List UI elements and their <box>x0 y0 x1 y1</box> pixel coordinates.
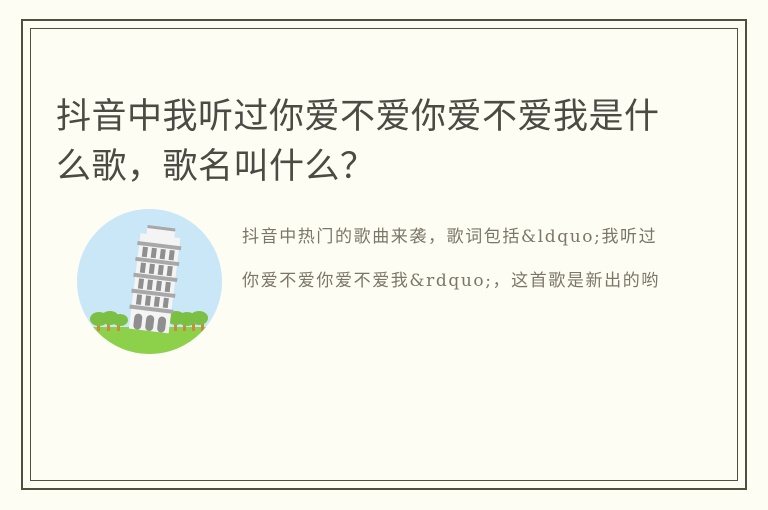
avatar <box>77 209 222 354</box>
article-summary-content: 抖音中热门的歌曲来袭，歌词包括&ldquo;我听过你爱不爱你爱不爱我&rdquo… <box>242 215 662 303</box>
page-frame-inner: 抖音中我听过你爱不爱你爱不爱我是什么歌，歌名叫什么？ <box>30 28 738 481</box>
page-title: 抖音中我听过你爱不爱你爱不爱我是什么歌，歌名叫什么？ <box>56 92 676 192</box>
article-summary-text: 抖音中热门的歌曲来袭，歌词包括&ldquo;我听过你爱不爱你爱不爱我&rdquo… <box>242 215 662 347</box>
article-summary-block: 抖音中热门的歌曲来袭，歌词包括&ldquo;我听过你爱不爱你爱不爱我&rdquo… <box>56 209 716 369</box>
page-frame: 抖音中我听过你爱不爱你爱不爱我是什么歌，歌名叫什么？ <box>21 19 747 490</box>
leaning-tower-of-pisa-icon <box>77 209 222 354</box>
